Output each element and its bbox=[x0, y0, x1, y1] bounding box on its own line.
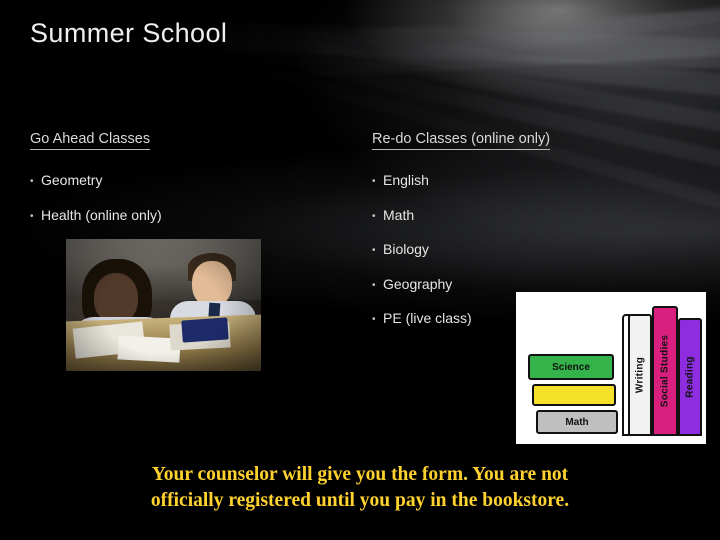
go-ahead-classes-list: •Geometry •Health (online only) bbox=[30, 164, 162, 233]
book-flat-label: Math bbox=[565, 417, 588, 428]
book-spine-social-studies: Social Studies bbox=[652, 306, 678, 436]
book-spine-label: Social Studies bbox=[660, 335, 671, 408]
bottom-message-line-2: officially registered until you pay in t… bbox=[60, 488, 660, 514]
bullet-icon: • bbox=[30, 165, 41, 199]
list-item-label: Health (online only) bbox=[41, 207, 162, 223]
photo-shading bbox=[66, 239, 261, 371]
light-ray bbox=[200, 8, 720, 83]
bullet-icon: • bbox=[30, 200, 41, 234]
re-do-classes-list: •English •Math •Biology •Geography •PE (… bbox=[372, 164, 472, 337]
book-flat-science: Science bbox=[528, 354, 614, 380]
books-clipart: Writing Social Studies Reading Science M… bbox=[516, 292, 706, 444]
book-spine-label: Writing bbox=[635, 357, 646, 393]
slide-title: Summer School bbox=[30, 18, 227, 49]
bottom-message: Your counselor will give you the form. Y… bbox=[60, 462, 660, 514]
book-page-edge bbox=[622, 314, 630, 436]
list-item-label: English bbox=[383, 172, 429, 188]
list-item-label: Biology bbox=[383, 241, 429, 257]
bottom-message-line-1: Your counselor will give you the form. Y… bbox=[60, 462, 660, 488]
book-spine-writing: Writing bbox=[628, 314, 652, 436]
list-item: •Health (online only) bbox=[30, 199, 162, 234]
list-item: •Geometry bbox=[30, 164, 162, 199]
bullet-icon: • bbox=[372, 165, 383, 199]
list-item: •Math bbox=[372, 199, 472, 234]
students-photo bbox=[66, 239, 261, 371]
list-item: •Biology bbox=[372, 233, 472, 268]
list-item: •PE (live class) bbox=[372, 302, 472, 337]
list-item: •English bbox=[372, 164, 472, 199]
list-item-label: Geography bbox=[383, 276, 452, 292]
bullet-icon: • bbox=[372, 200, 383, 234]
list-item-label: Geometry bbox=[41, 172, 102, 188]
list-item-label: Math bbox=[383, 207, 414, 223]
book-flat-math: Math bbox=[536, 410, 618, 434]
slide: Summer School Go Ahead Classes •Geometry… bbox=[0, 0, 720, 540]
book-spine-reading: Reading bbox=[678, 318, 702, 436]
book-flat-label: Science bbox=[552, 362, 590, 373]
bullet-icon: • bbox=[372, 269, 383, 303]
column-heading-re-do: Re-do Classes (online only) bbox=[372, 131, 550, 150]
bullet-icon: • bbox=[372, 234, 383, 268]
list-item-label: PE (live class) bbox=[383, 310, 472, 326]
list-item: •Geography bbox=[372, 268, 472, 303]
book-flat-blank bbox=[532, 384, 616, 406]
book-spine-label: Reading bbox=[685, 356, 696, 398]
light-ray bbox=[244, 0, 720, 88]
column-heading-go-ahead: Go Ahead Classes bbox=[30, 131, 150, 150]
bullet-icon: • bbox=[372, 303, 383, 337]
